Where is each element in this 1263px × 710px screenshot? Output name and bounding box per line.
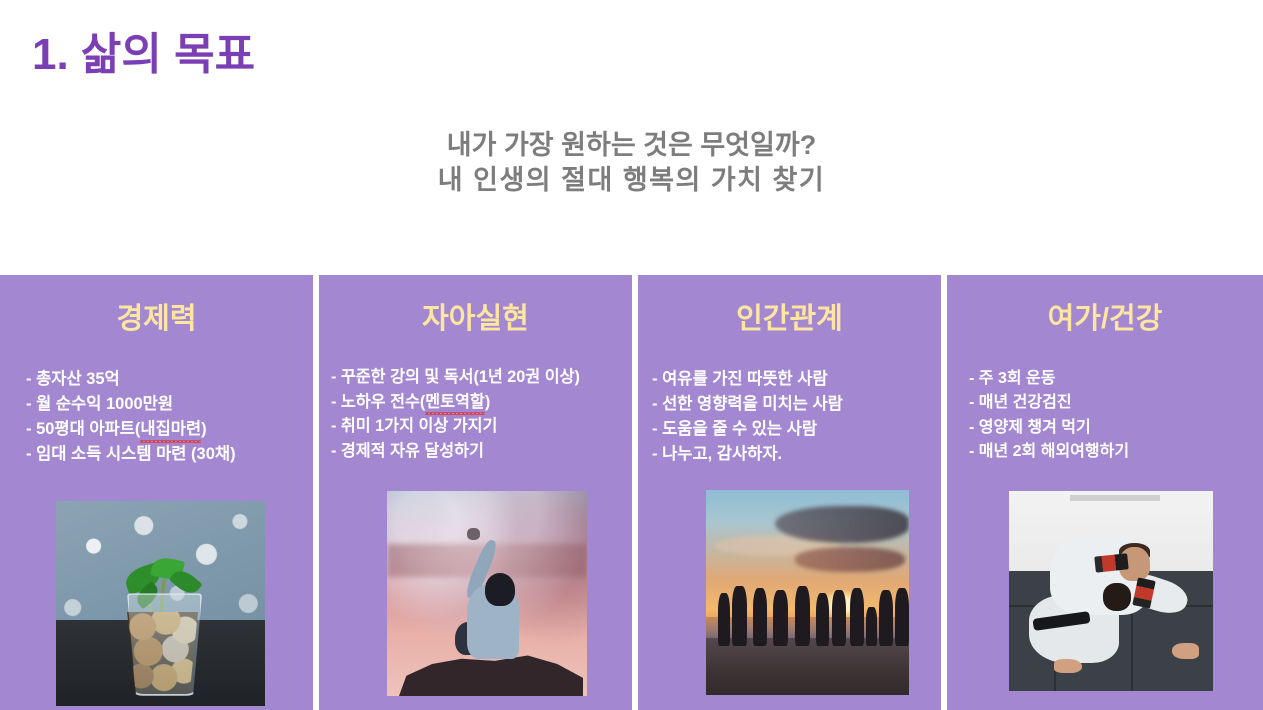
list-item: - 매년 건강검진 — [969, 391, 1263, 415]
list-item: - 월 순수익 1000만원 — [26, 392, 313, 417]
list-item: - 임대 소득 시스템 마련 (30채) — [26, 442, 313, 467]
list-item: - 나누고, 감사하자. — [652, 442, 941, 467]
list-item: - 도움을 줄 수 있는 사람 — [652, 417, 941, 442]
goal-column-leisure-health: 여가/건강 - 주 3회 운동 - 매년 건강검진 - 영양제 챙겨 먹기 - … — [947, 275, 1263, 710]
photo-person-on-mountain-raised-fist — [387, 491, 587, 696]
list-item: - 선한 영향력을 미치는 사람 — [652, 392, 941, 417]
column-bullets-economy: - 총자산 35억 - 월 순수익 1000만원 - 50평대 아파트(내집마련… — [0, 367, 313, 467]
subtitle-line-2: 내 인생의 절대 행복의 가치 찾기 — [0, 163, 1263, 198]
list-item: - 50평대 아파트(내집마련) — [26, 417, 313, 442]
column-bullets-relationships: - 여유를 가진 따뜻한 사람 - 선한 영향력을 미치는 사람 - 도움을 줄… — [638, 367, 941, 467]
column-bullets-self-realization: - 꾸준한 강의 및 독서(1년 20권 이상) - 노하우 전수(멘토역할) … — [319, 365, 632, 464]
list-item: - 매년 2회 해외여행하기 — [969, 440, 1263, 464]
column-header-economy: 경제력 — [0, 295, 313, 337]
list-item: - 취미 1가지 이상 가지기 — [331, 414, 632, 439]
page-title: 1. 삶의 목표 — [32, 18, 255, 82]
list-item: - 영양제 챙겨 먹기 — [969, 416, 1263, 440]
column-header-relationships: 인간관계 — [638, 295, 941, 337]
column-header-leisure-health: 여가/건강 — [947, 295, 1263, 337]
list-item: - 총자산 35억 — [26, 367, 313, 392]
list-item: - 경제적 자유 달성하기 — [331, 439, 632, 464]
photo-coins-in-jar-with-sprout — [56, 501, 265, 706]
photo-people-holding-hands-beach-sunset — [706, 490, 909, 695]
list-item: - 주 3회 운동 — [969, 367, 1263, 391]
photo-jiu-jitsu-training — [1009, 491, 1213, 691]
list-item: - 노하우 전수(멘토역할) — [331, 390, 632, 415]
subtitle-line-1: 내가 가장 원하는 것은 무엇일까? — [0, 128, 1263, 163]
column-header-self-realization: 자아실현 — [319, 295, 632, 337]
list-item: - 여유를 가진 따뜻한 사람 — [652, 367, 941, 392]
column-bullets-leisure-health: - 주 3회 운동 - 매년 건강검진 - 영양제 챙겨 먹기 - 매년 2회 … — [947, 367, 1263, 464]
goal-column-economy: 경제력 - 총자산 35억 - 월 순수익 1000만원 - 50평대 아파트(… — [0, 275, 313, 710]
list-item: - 꾸준한 강의 및 독서(1년 20권 이상) — [331, 365, 632, 390]
goal-column-self-realization: 자아실현 - 꾸준한 강의 및 독서(1년 20권 이상) - 노하우 전수(멘… — [319, 275, 632, 710]
slide-subtitle: 내가 가장 원하는 것은 무엇일까? 내 인생의 절대 행복의 가치 찾기 — [0, 128, 1263, 198]
goal-columns: 경제력 - 총자산 35억 - 월 순수익 1000만원 - 50평대 아파트(… — [0, 275, 1263, 710]
goal-column-relationships: 인간관계 - 여유를 가진 따뜻한 사람 - 선한 영향력을 미치는 사람 - … — [638, 275, 941, 710]
